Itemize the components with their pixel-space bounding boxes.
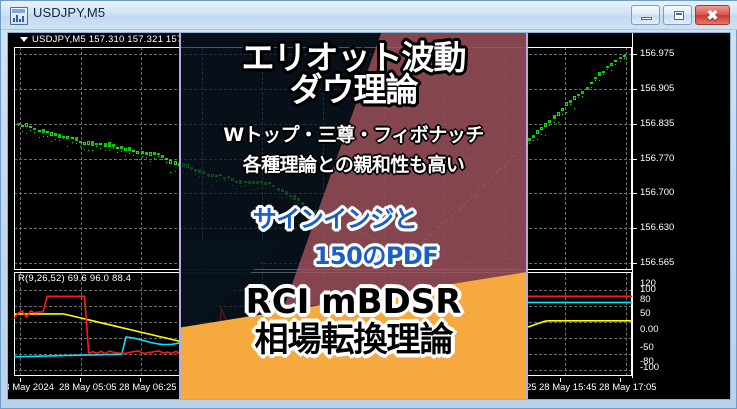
candle-body <box>619 57 622 60</box>
candle-wick <box>154 158 155 159</box>
candle-body <box>54 133 57 136</box>
candle-wick <box>582 96 583 97</box>
candle-wick <box>624 58 625 59</box>
candle-wick <box>607 69 608 70</box>
candle-wick <box>146 157 147 158</box>
candle-wick <box>100 148 101 149</box>
candle-wick <box>162 159 163 160</box>
candle-body <box>169 160 172 164</box>
candle-body <box>594 77 597 79</box>
candle-wick <box>175 171 176 172</box>
chart-window[interactable]: USDJPY,M5 157.310 157.321 157. 156.97515… <box>7 32 731 400</box>
chart-icon <box>10 7 28 25</box>
candle-wick <box>84 149 85 150</box>
candle-wick <box>595 80 596 81</box>
candle-wick <box>611 70 612 71</box>
candle-wick <box>549 125 550 126</box>
candle-body <box>548 120 551 123</box>
candle-wick <box>113 148 114 149</box>
candle-wick <box>105 150 106 151</box>
candle-body <box>25 123 28 127</box>
price-axis-label: 156.905 <box>640 83 674 94</box>
candle-body <box>29 126 32 128</box>
candle-body <box>614 60 617 62</box>
candle-wick <box>587 89 588 90</box>
title-bar: USDJPY,M5 ✖ <box>1 1 737 30</box>
candle-body <box>540 127 543 130</box>
candle-body <box>553 115 556 119</box>
candle-body <box>544 123 547 127</box>
candle-body <box>95 143 98 145</box>
candle-body <box>161 155 164 157</box>
candle-body <box>528 138 531 141</box>
indicator-axis-label: 80 <box>640 294 651 305</box>
indicator-axis-label: 0.00 <box>640 324 659 335</box>
candle-body <box>120 146 123 149</box>
promo-overlay: エリオット波動 ダウ理論 Wトップ・三尊・フィボナッチ 各種理論との親和性も高い… <box>179 33 528 400</box>
candle-body <box>581 91 584 95</box>
candle-body <box>602 71 605 73</box>
candle-body <box>536 130 539 134</box>
scale-separator <box>632 33 633 378</box>
promo-feature-2: 150のPDF <box>226 244 526 268</box>
restore-icon <box>674 11 684 20</box>
candle-wick <box>620 61 621 62</box>
candle-wick <box>22 131 23 132</box>
candle-wick <box>55 139 56 140</box>
time-axis-label: 28 May 05:05 <box>59 382 117 393</box>
candle-wick <box>133 155 134 156</box>
candle-body <box>99 143 102 145</box>
candle-wick <box>26 133 27 134</box>
promo-feature-1: サインインジと <box>185 207 485 231</box>
price-pane-header: USDJPY,M5 157.310 157.321 157. <box>32 34 185 45</box>
candle-body <box>145 152 148 156</box>
candle-wick <box>80 146 81 147</box>
minimize-button[interactable] <box>631 5 660 25</box>
candle-body <box>79 141 82 143</box>
candle-body <box>87 141 90 145</box>
candle-body <box>565 102 568 106</box>
candle-body <box>108 142 111 146</box>
candle-body <box>75 137 78 141</box>
candle-body <box>58 134 61 138</box>
candle-body <box>610 63 613 66</box>
candle-body <box>606 66 609 68</box>
indicator-header: R(9,26,52) 69.6 96.0 88.4 <box>18 273 131 284</box>
candle-body <box>128 147 131 150</box>
candle-body <box>623 55 626 57</box>
candle-wick <box>150 161 151 162</box>
indicator-axis-label: 50 <box>640 308 651 319</box>
price-axis-label: 156.770 <box>640 153 674 164</box>
candle-wick <box>562 114 563 115</box>
candle-wick <box>67 146 68 147</box>
window-title: USDJPY,M5 <box>33 5 105 20</box>
time-axis-label: 28 May 06:25 <box>119 382 177 393</box>
promo-product-tagline: 相場転換理論 <box>181 323 526 357</box>
candle-body <box>561 108 564 111</box>
candle-wick <box>529 143 530 144</box>
candle-wick <box>599 80 600 81</box>
chart-menu-arrow-icon[interactable] <box>20 37 28 42</box>
candle-wick <box>59 140 60 141</box>
candle-body <box>132 150 135 152</box>
candle-wick <box>545 135 546 136</box>
candle-body <box>573 96 576 100</box>
candle-wick <box>30 130 31 131</box>
candle-wick <box>34 132 35 133</box>
candle-wick <box>109 150 110 151</box>
close-button[interactable]: ✖ <box>695 5 730 25</box>
candle-body <box>153 152 156 155</box>
candle-body <box>33 128 36 130</box>
candle-wick <box>541 134 542 135</box>
candle-body <box>590 82 593 84</box>
candle-wick <box>570 104 571 105</box>
candle-body <box>586 87 589 89</box>
price-axis-label: 156.565 <box>640 257 674 268</box>
candle-body <box>17 123 20 125</box>
candle-body <box>569 100 572 103</box>
promo-subline-2: 各種理論との親和性も高い <box>181 156 526 175</box>
candle-body <box>62 136 65 138</box>
promo-subline-1: Wトップ・三尊・フィボナッチ <box>181 126 526 145</box>
promo-headline-2: ダウ理論 <box>181 73 526 106</box>
candle-body <box>38 130 41 133</box>
candle-wick <box>578 97 579 98</box>
candle-wick <box>88 150 89 151</box>
candle-body <box>50 132 53 136</box>
candle-body <box>557 112 560 116</box>
candle-wick <box>537 139 538 140</box>
candle-wick <box>137 159 138 160</box>
candle-body <box>21 125 24 128</box>
candle-wick <box>170 172 171 173</box>
candle-body <box>104 143 107 147</box>
candle-wick <box>603 74 604 75</box>
candle-body <box>112 144 115 147</box>
candle-wick <box>158 156 159 157</box>
indicator-axis-label: -50 <box>640 342 654 353</box>
candle-wick <box>47 136 48 137</box>
candle-body <box>46 131 49 133</box>
candle-body <box>42 129 45 133</box>
candle-wick <box>129 153 130 154</box>
time-axis-label: 28 May 17:05 <box>599 382 657 393</box>
minimize-icon <box>641 17 652 20</box>
candle-wick <box>591 87 592 88</box>
candle-body <box>157 153 160 155</box>
candle-body <box>66 136 69 140</box>
candle-wick <box>121 151 122 152</box>
candle-body <box>165 158 168 160</box>
candle-wick <box>96 146 97 147</box>
candle-body <box>577 94 580 96</box>
promo-product-name: RCI mBDSR <box>181 285 526 319</box>
candle-body <box>174 161 177 165</box>
candle-body <box>71 137 74 139</box>
candle-body <box>91 141 94 145</box>
candle-body <box>532 135 535 138</box>
candle-wick <box>76 143 77 144</box>
candle-wick <box>558 122 559 123</box>
candle-wick <box>615 64 616 65</box>
maximize-button[interactable] <box>663 5 692 25</box>
candle-wick <box>92 150 93 151</box>
candle-wick <box>142 156 143 157</box>
time-axis-label: 28 May 2024 <box>7 382 54 393</box>
candle-body <box>136 151 139 155</box>
candle-wick <box>39 137 40 138</box>
price-axis-label: 156.975 <box>640 48 674 59</box>
candle-wick <box>533 140 534 141</box>
candle-body <box>83 142 86 145</box>
candle-wick <box>72 142 73 143</box>
candle-wick <box>63 138 64 139</box>
price-axis-label: 156.700 <box>640 187 674 198</box>
candle-wick <box>43 136 44 137</box>
price-axis-label: 156.835 <box>640 118 674 129</box>
candle-body <box>149 152 152 156</box>
candle-wick <box>117 152 118 153</box>
candle-wick <box>125 155 126 156</box>
candle-wick <box>166 162 167 163</box>
candle-body <box>141 151 144 154</box>
application-window: USDJPY,M5 ✖ USDJPY,M5 157.310 157.321 15… <box>0 0 737 409</box>
candle-wick <box>554 122 555 123</box>
candle-body <box>116 147 119 149</box>
candle-wick <box>566 112 567 113</box>
indicator-axis-label: -100 <box>640 362 659 373</box>
candle-body <box>598 72 601 76</box>
close-icon: ✖ <box>696 6 729 24</box>
candle-wick <box>574 108 575 109</box>
candle-body <box>124 148 127 151</box>
candle-wick <box>51 141 52 142</box>
price-axis-label: 156.630 <box>640 222 674 233</box>
time-axis-label: 28 May 15:45 <box>539 382 597 393</box>
